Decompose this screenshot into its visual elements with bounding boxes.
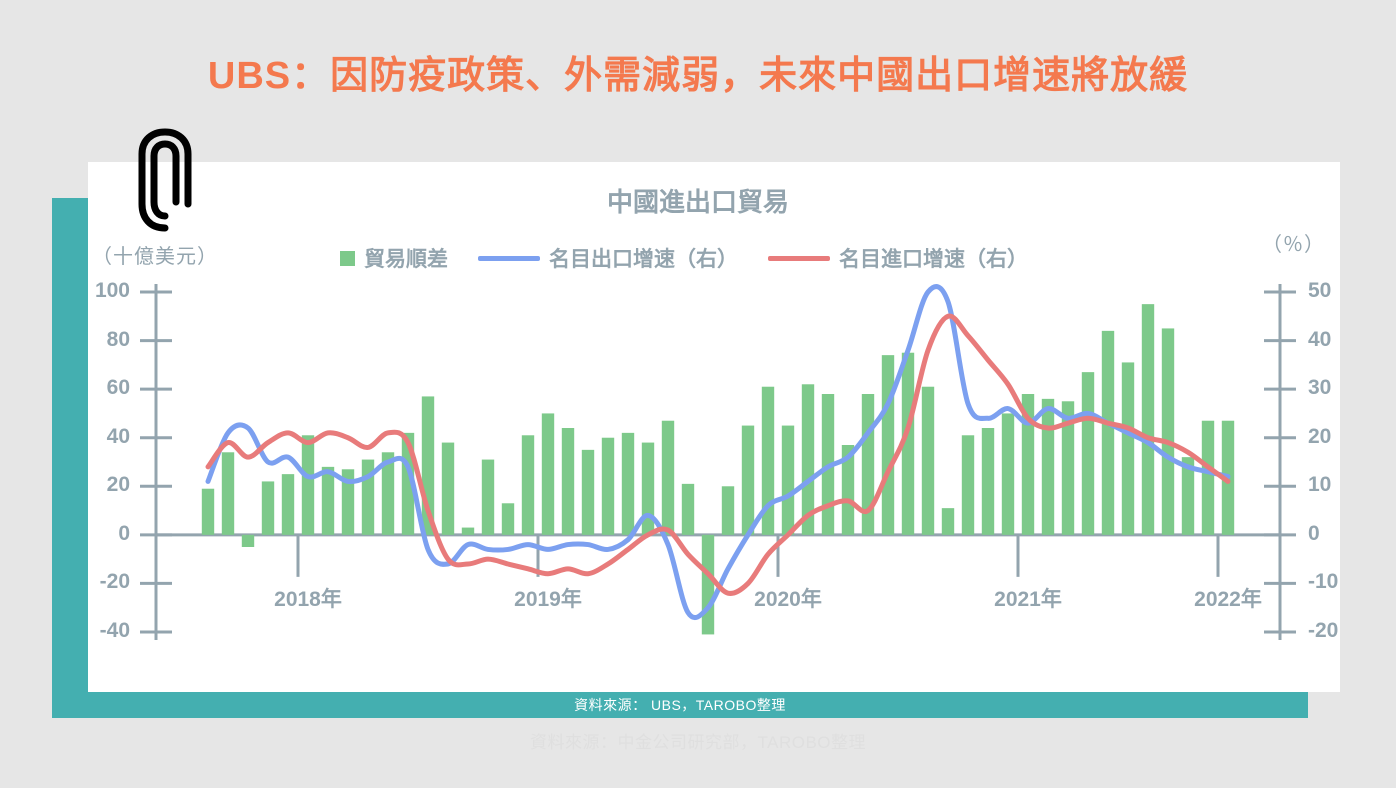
y2-axis-tick-label: 0 — [1308, 522, 1370, 546]
y2-axis-tick-label: -10 — [1308, 570, 1370, 594]
legend-swatch-line-import — [768, 256, 830, 261]
y2-axis-tick-label: 50 — [1308, 279, 1370, 303]
chart-title: 中國進出口貿易 — [0, 182, 1396, 219]
right-axis-unit: （％） — [1262, 228, 1325, 257]
source-text: 資料來源： UBS，TAROBO整理 — [574, 695, 786, 715]
chart-legend: 貿易順差 名目出口增速（右） 名目進口增速（右） — [340, 243, 1028, 273]
y-axis-tick-label: 40 — [68, 425, 130, 449]
y2-axis-tick-label: -20 — [1308, 619, 1370, 643]
legend-item-trade-surplus: 貿易順差 — [340, 243, 448, 273]
x-axis-tick-label: 2022年 — [1168, 583, 1288, 613]
page-title: UBS：因防疫政策、外需減弱，未來中國出口增速將放緩 — [0, 44, 1396, 99]
y-axis-tick-label: 100 — [68, 279, 130, 303]
legend-swatch-line-export — [478, 256, 540, 261]
legend-label: 名目進口增速（右） — [839, 243, 1028, 273]
y-axis-tick-label: 80 — [68, 328, 130, 352]
chart-plot-area: 100806040200-20-4050403020100-10-202018年… — [88, 270, 1340, 670]
left-axis-unit: （十億美元） — [92, 240, 218, 269]
y-axis-tick-label: 20 — [68, 473, 130, 497]
y2-axis-tick-label: 20 — [1308, 425, 1370, 449]
legend-label: 名目出口增速（右） — [549, 243, 738, 273]
x-axis-tick-label: 2019年 — [488, 583, 608, 613]
y-axis-tick-label: 0 — [68, 522, 130, 546]
x-axis-tick-label: 2021年 — [968, 583, 1088, 613]
y2-axis-tick-label: 30 — [1308, 376, 1370, 400]
legend-swatch-bar — [340, 251, 355, 266]
x-axis-tick-label: 2020年 — [728, 583, 848, 613]
y-axis-tick-label: 60 — [68, 376, 130, 400]
x-axis-tick-label: 2018年 — [248, 583, 368, 613]
legend-label: 貿易順差 — [364, 243, 448, 273]
y-axis-tick-label: -40 — [68, 619, 130, 643]
y-axis-tick-label: -20 — [68, 570, 130, 594]
legend-item-export-growth: 名目出口增速（右） — [478, 243, 738, 273]
legend-item-import-growth: 名目進口增速（右） — [768, 243, 1028, 273]
source-bar: 資料來源： UBS，TAROBO整理 — [52, 692, 1308, 718]
ghost-source-text: 資料來源：中金公司研究部，TAROBO整理 — [0, 728, 1396, 753]
y2-axis-tick-label: 10 — [1308, 473, 1370, 497]
y2-axis-tick-label: 40 — [1308, 328, 1370, 352]
